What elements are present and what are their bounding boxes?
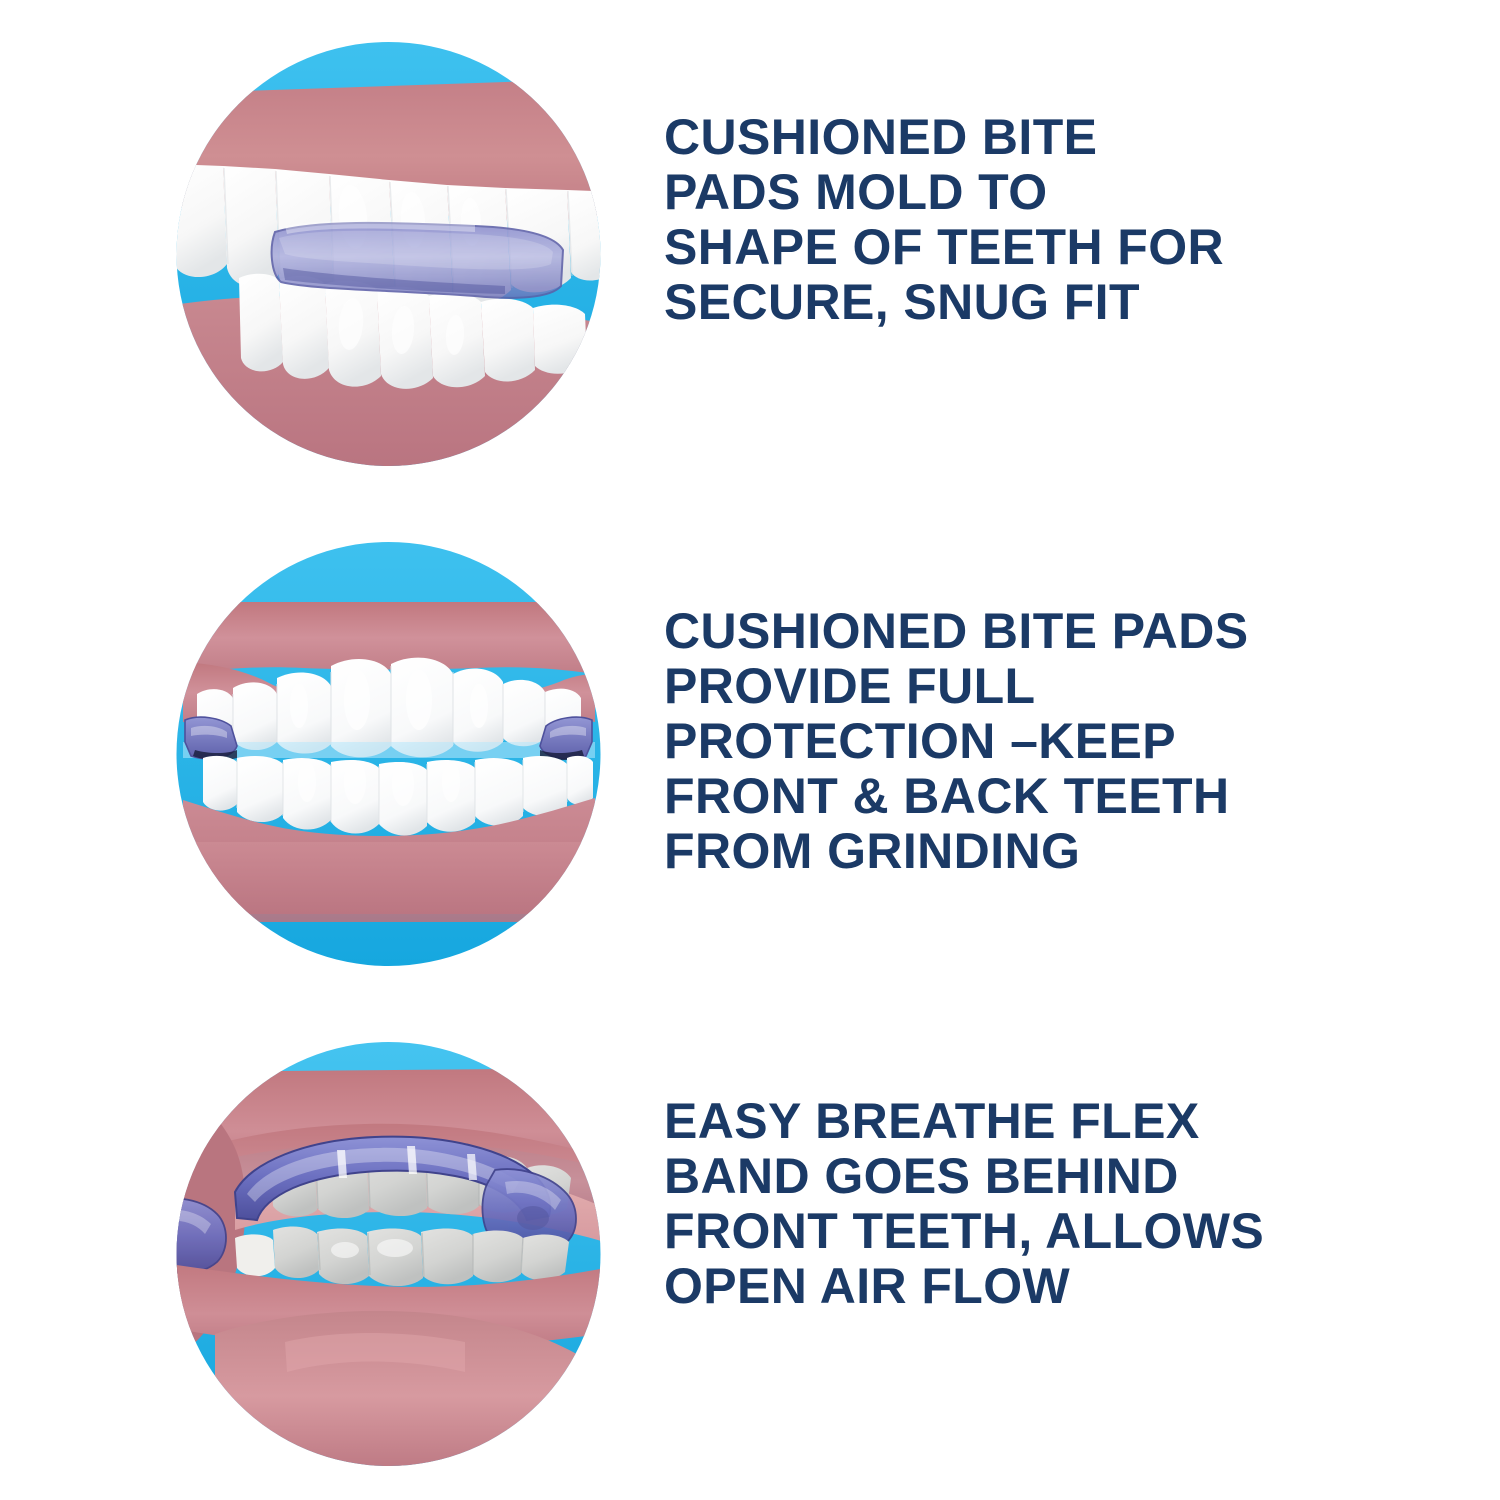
feature-3-text: EASY BREATHE FLEX BAND GOES BEHIND FRONT… bbox=[664, 1042, 1354, 1314]
interior-view-flex-band-behind-front-teeth-icon bbox=[175, 1042, 602, 1466]
product-feature-infographic: CUSHIONED BITE PADS MOLD TO SHAPE OF TEE… bbox=[0, 0, 1500, 1500]
dental-scene bbox=[175, 78, 602, 466]
feature-2-text: CUSHIONED BITE PADS PROVIDE FULL PROTECT… bbox=[664, 542, 1354, 879]
mouth-guard bbox=[272, 221, 563, 298]
dental-scene bbox=[175, 1068, 602, 1466]
feature-1-text: CUSHIONED BITE PADS MOLD TO SHAPE OF TEE… bbox=[664, 42, 1354, 330]
feature-row-1: CUSHIONED BITE PADS MOLD TO SHAPE OF TEE… bbox=[0, 42, 1500, 502]
feature-row-2: CUSHIONED BITE PADS PROVIDE FULL PROTECT… bbox=[0, 542, 1500, 1002]
illustration-interior-view-flex-band-behind-front-teeth bbox=[175, 1042, 602, 1466]
feature-row-3: EASY BREATHE FLEX BAND GOES BEHIND FRONT… bbox=[0, 1042, 1500, 1500]
illustration-front-view-closed-teeth-with-bite-pads bbox=[175, 542, 602, 966]
front-view-closed-teeth-with-bite-pads-icon bbox=[175, 542, 602, 966]
illustration-side-view-teeth-with-mouthguard bbox=[175, 42, 602, 466]
side-view-teeth-with-mouthguard-icon bbox=[175, 42, 602, 466]
